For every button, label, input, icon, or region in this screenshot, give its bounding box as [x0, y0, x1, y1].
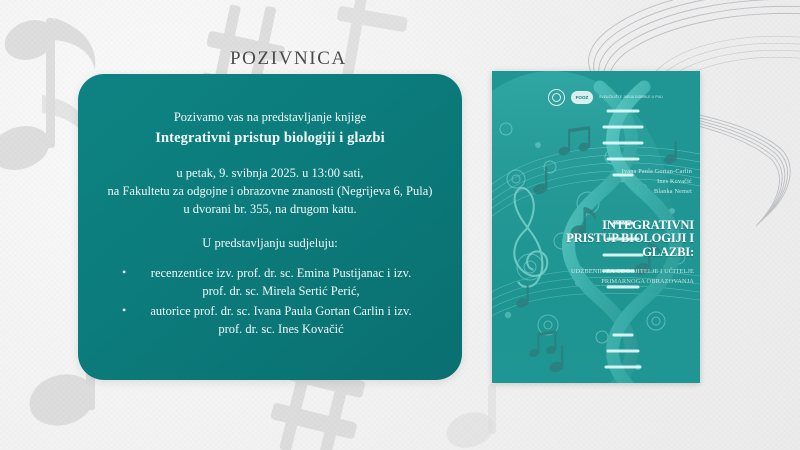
invitation-venue-line-1: na Fakultetu za odgojne i obrazovne znan… — [104, 182, 436, 200]
spacer — [104, 252, 436, 264]
invitation-venue-line-2: u dvorani br. 355, na drugom katu. — [104, 200, 436, 218]
invitation-datetime: u petak, 9. svibnja 2025. u 13:00 sati, — [104, 164, 436, 182]
spacer — [104, 219, 436, 234]
spiral-logo-icon — [548, 89, 565, 106]
participants-heading: U predstavljanju sudjeluju: — [104, 234, 436, 252]
list-item: • recenzentice izv. prof. dr. sc. Emina … — [104, 264, 436, 300]
bullet-icon: • — [122, 264, 126, 281]
publisher-name-text: SVEUČILIŠTE JURJA DOBRILE U PULI — [599, 95, 663, 99]
invitation-content: Pozivamo vas na predstavljanje knjige In… — [78, 74, 462, 360]
invitation-book-title: Integrativni pristup biologiji i glazbi — [104, 128, 436, 149]
book-cover-image: FOOZ SVEUČILIŠTE JURJA DOBRILE U PULI Iv… — [492, 71, 700, 383]
cover-title-text: INTEGRATIVNI PRISTUP BIOLOGIJI I GLAZBI: — [552, 219, 694, 259]
slide-canvas: POZIVNICA Pozivamo vas na predstavljanje… — [0, 0, 800, 450]
list-item-label: autorice prof. dr. sc. Ivana Paula Gorta… — [150, 304, 411, 336]
invitation-intro-text: Pozivamo vas na predstavljanje knjige — [104, 108, 436, 126]
list-item-label: recenzentice izv. prof. dr. sc. Emina Pu… — [151, 266, 411, 298]
publisher-badge-icon: FOOZ — [571, 91, 593, 104]
cover-publisher-logos: FOOZ SVEUČILIŠTE JURJA DOBRILE U PULI — [548, 89, 663, 106]
participants-list: • recenzentice izv. prof. dr. sc. Emina … — [104, 264, 436, 339]
page-title: POZIVNICA — [230, 48, 347, 70]
invitation-panel: Pozivamo vas na predstavljanje knjige In… — [78, 74, 462, 380]
spiral-inner — [552, 93, 561, 102]
list-item: • autorice prof. dr. sc. Ivana Paula Gor… — [104, 302, 436, 338]
cover-subtitle-text: UDŽBENIK ZA ODGOJITELJE I UČITELJE PRIMA… — [570, 267, 694, 287]
bullet-icon: • — [122, 302, 126, 319]
cover-authors-text: Ivana Paula Gortan-Carlin Ines Kovačić B… — [596, 167, 692, 197]
spacer — [104, 149, 436, 164]
